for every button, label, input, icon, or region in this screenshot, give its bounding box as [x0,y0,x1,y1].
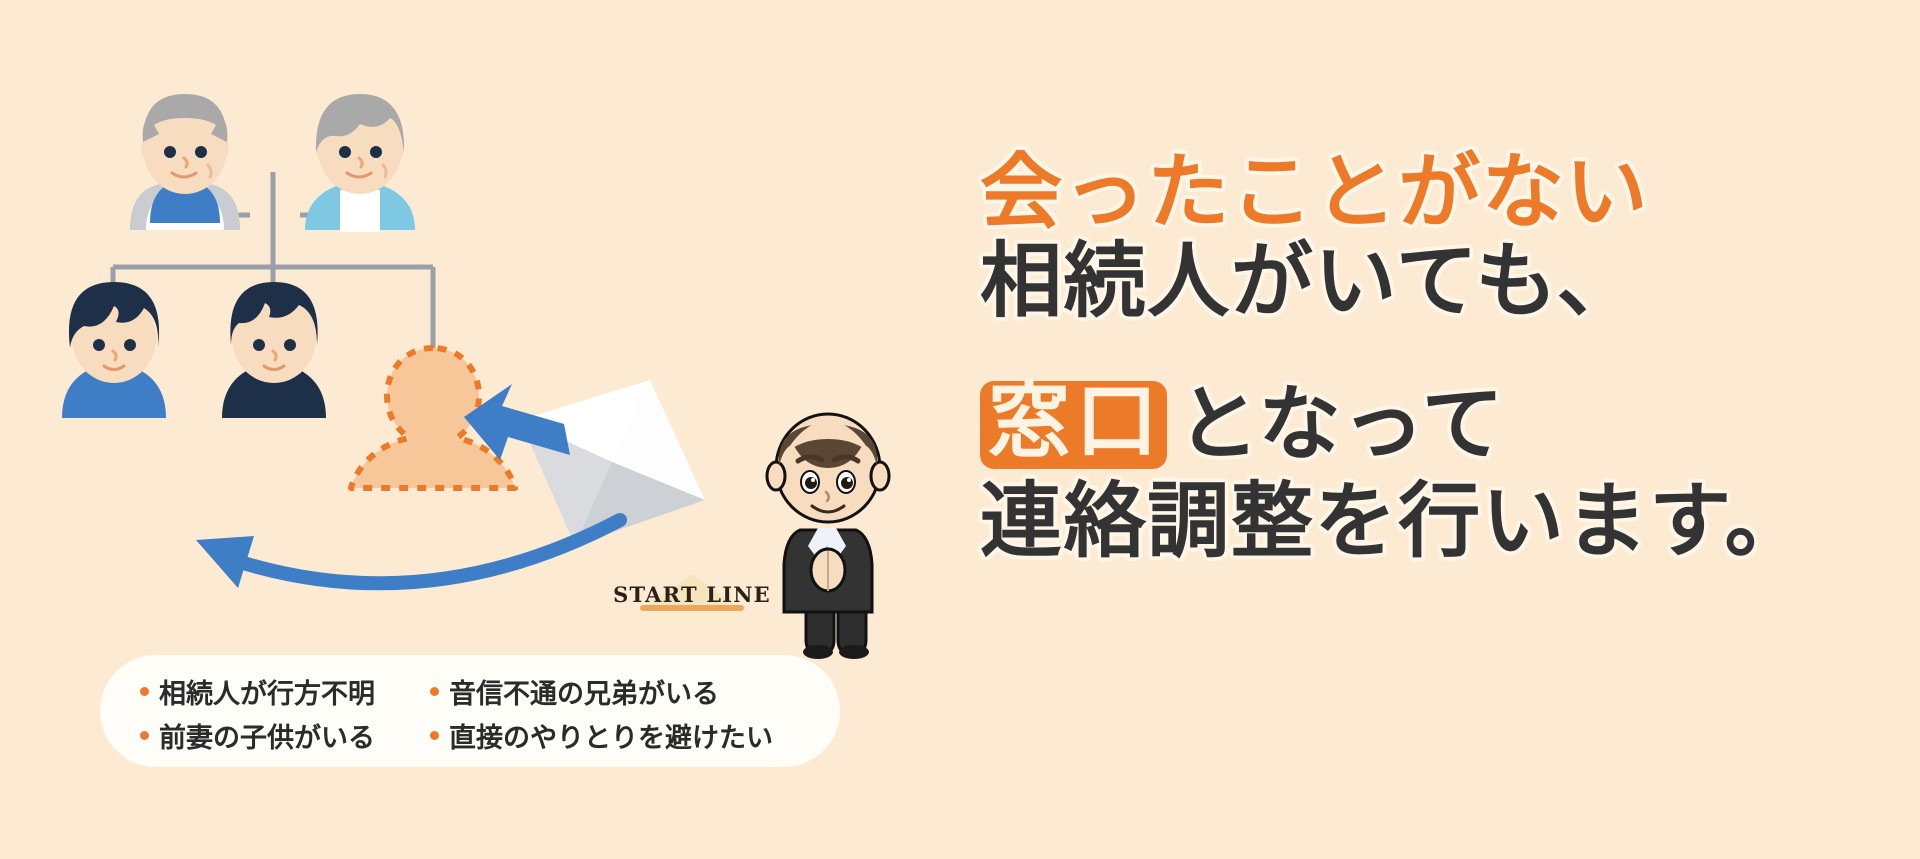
bullet-text: 音信不通の兄弟がいる [449,672,719,711]
unknown-heir-to-family-curved-arrow [196,520,620,588]
bullet-dot-icon [430,731,439,740]
mascot-lawyer-character [767,414,889,659]
headline-line-1: 会ったことがない [980,150,1880,235]
headline-line-3: 窓 口 となって [980,381,1880,469]
list-item: 直接のやりとりを避けたい [430,716,773,755]
person-son [222,282,326,418]
poster-canvas: START LINE [0,0,1920,855]
list-item: 相続人が行方不明 [140,672,430,711]
bullet-text: 直接のやりとりを避けたい [449,716,773,755]
list-item: 音信不通の兄弟がいる [430,672,719,711]
headline-line-4: 連絡調整を行います。 [980,479,1880,564]
pain-point-card: 相続人が行方不明 音信不通の兄弟がいる 前妻の子供がいる 直接のやりとりを避けた… [100,655,840,767]
bullet-dot-icon [140,687,149,696]
bullet-dot-icon [140,731,149,740]
bullet-text: 前妻の子供がいる [159,716,375,755]
badge-char-1: 窓 [986,381,1074,463]
start-line-logo: START LINE [613,574,771,611]
headline-line-3-text: となって [1177,382,1505,467]
person-grandfather [130,94,240,230]
list-item: 前妻の子供がいる [140,716,430,755]
madoguchi-badge: 窓 口 [980,381,1167,469]
bullet-text: 相続人が行方不明 [159,672,375,711]
person-daughter [62,282,166,418]
person-grandmother [305,94,415,232]
headline-line-2: 相続人がいても、 [980,239,1880,324]
bullet-row: 相続人が行方不明 音信不通の兄弟がいる [140,669,800,713]
badge-char-2: 口 [1074,381,1162,463]
bullet-dot-icon [430,687,439,696]
headline-block: 会ったことがない 相続人がいても、 窓 口 となって 連絡調整を行います。 [980,150,1880,564]
start-line-logo-text: START LINE [613,582,771,607]
bullet-row: 前妻の子供がいる 直接のやりとりを避けたい [140,713,800,757]
